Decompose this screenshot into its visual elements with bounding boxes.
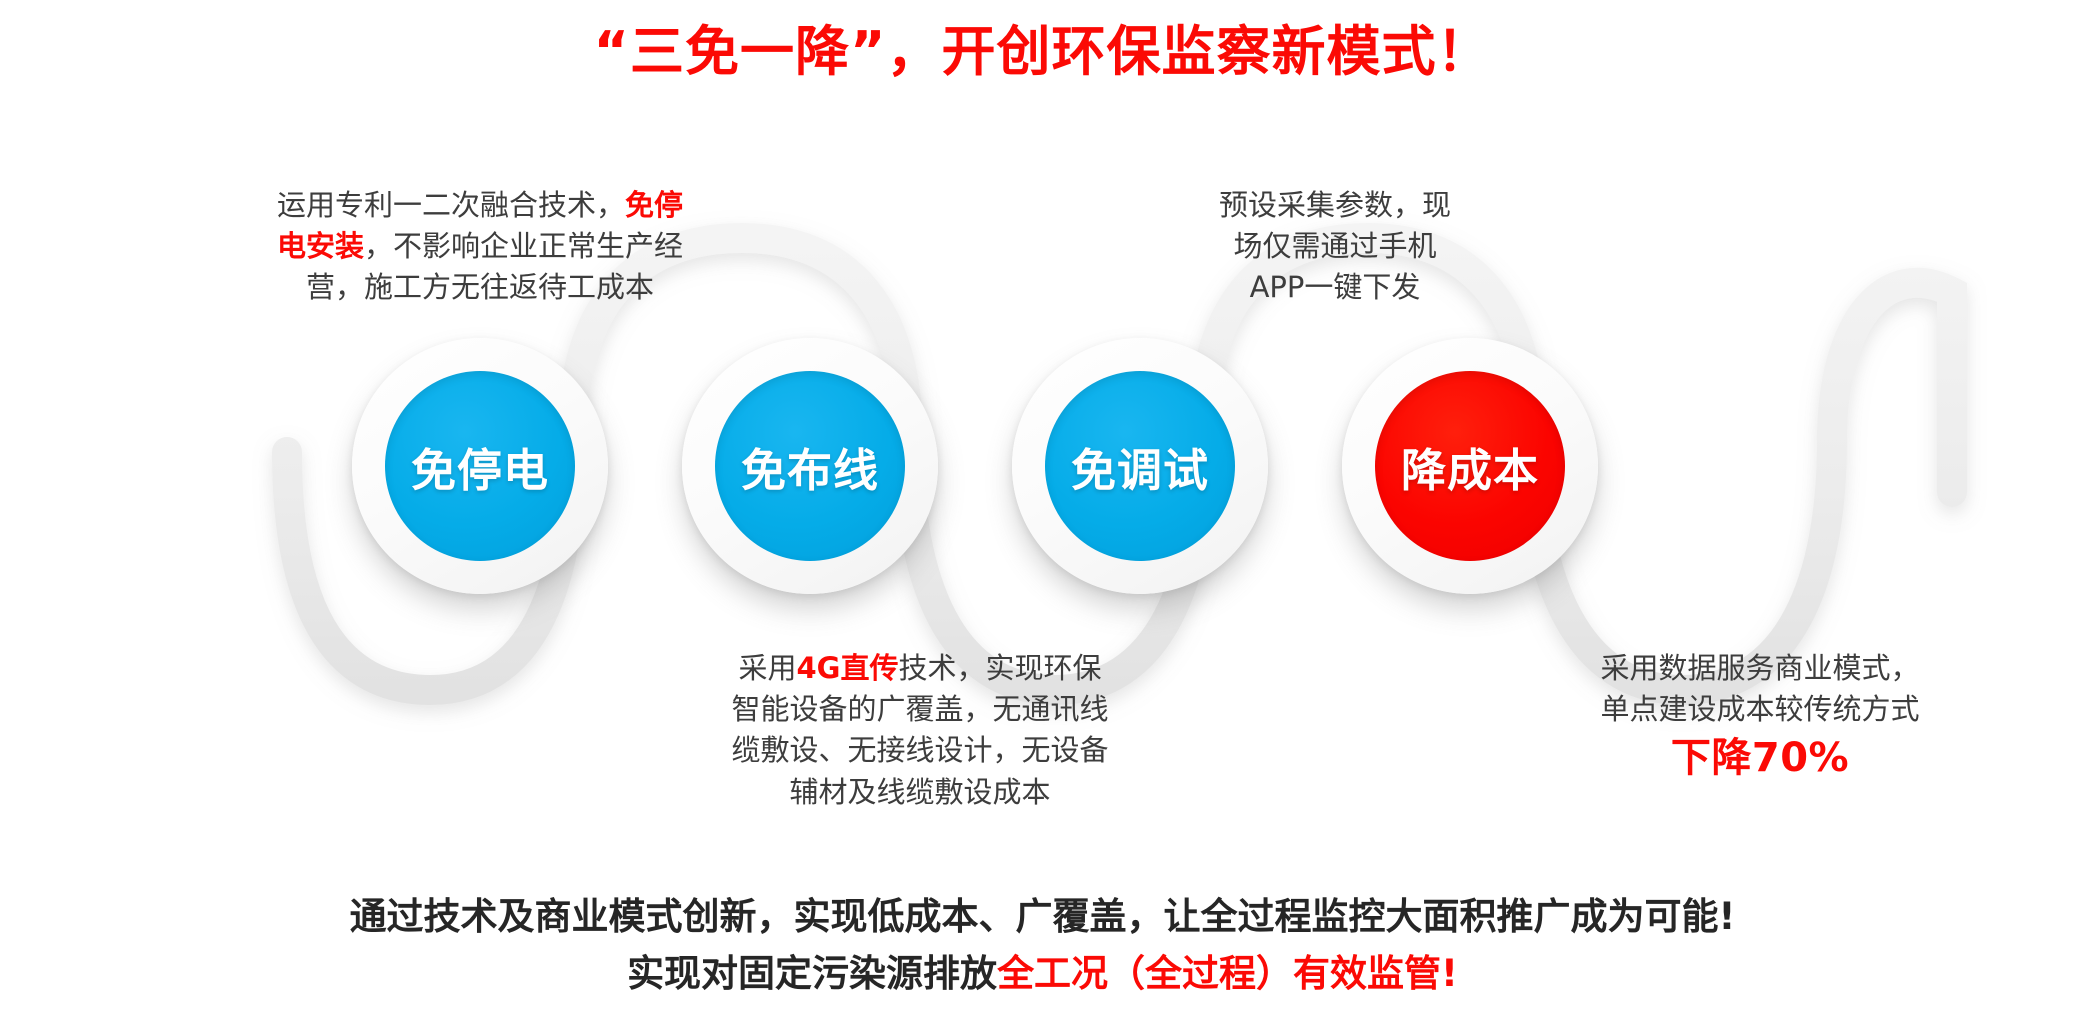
node-disc-2: 免布线 [715,371,905,561]
caption-node-3: 预设采集参数，现 场仅需通过手机 APP一键下发 [1100,185,1570,309]
node-circle-1[interactable]: 免停电 [352,338,608,594]
conclusion-line-1: 通过技术及商业模式创新，实现低成本、广覆盖，让全过程监控大面积推广成为可能! [350,895,1736,938]
node-label-2: 免布线 [741,434,879,499]
caption-3-line-3: APP一键下发 [1100,267,1570,308]
infographic-canvas: “三免一降”，开创环保监察新模式！ 免停电 免布线 [0,0,2085,1035]
caption-2-line-3: 缆敷设、无接线设计，无设备 [630,730,1210,771]
caption-2-line-2: 智能设备的广覆盖，无通讯线 [630,689,1210,730]
conclusion-line-2: 实现对固定污染源排放全工况（全过程）有效监管! [0,945,2085,1002]
caption-node-4: 采用数据服务商业模式， 单点建设成本较传统方式 下降70% [1510,648,2010,787]
node-disc-4: 降成本 [1375,371,1565,561]
caption-4-line-1: 采用数据服务商业模式， [1510,648,2010,689]
node-disc-3: 免调试 [1045,371,1235,561]
node-circle-4[interactable]: 降成本 [1342,338,1598,594]
caption-2-line-1: 采用4G直传技术，实现环保 [630,648,1210,689]
page-title: “三免一降”，开创环保监察新模式！ [0,18,2085,86]
node-circle-2[interactable]: 免布线 [682,338,938,594]
caption-3-line-2: 场仅需通过手机 [1100,226,1570,267]
caption-4-line-2: 单点建设成本较传统方式 [1510,689,2010,730]
node-label-4: 降成本 [1401,434,1539,499]
caption-node-1: 运用专利一二次融合技术，免停 电安装，不影响企业正常生产经 营，施工方无往返待工… [200,185,760,309]
conclusion-block: 通过技术及商业模式创新，实现低成本、广覆盖，让全过程监控大面积推广成为可能! 实… [0,888,2085,1003]
caption-4-highlight: 下降70% [1510,730,2010,787]
caption-3-line-1: 预设采集参数，现 [1100,185,1570,226]
node-disc-1: 免停电 [385,371,575,561]
caption-2-line-4: 辅材及线缆敷设成本 [630,772,1210,813]
caption-1-line-3: 营，施工方无往返待工成本 [200,267,760,308]
caption-node-2: 采用4G直传技术，实现环保 智能设备的广覆盖，无通讯线 缆敷设、无接线设计，无设… [630,648,1210,813]
caption-1-line-1: 运用专利一二次融合技术，免停 [200,185,760,226]
node-label-3: 免调试 [1071,434,1209,499]
caption-1-line-2: 电安装，不影响企业正常生产经 [200,226,760,267]
node-label-1: 免停电 [411,434,549,499]
node-circle-3[interactable]: 免调试 [1012,338,1268,594]
